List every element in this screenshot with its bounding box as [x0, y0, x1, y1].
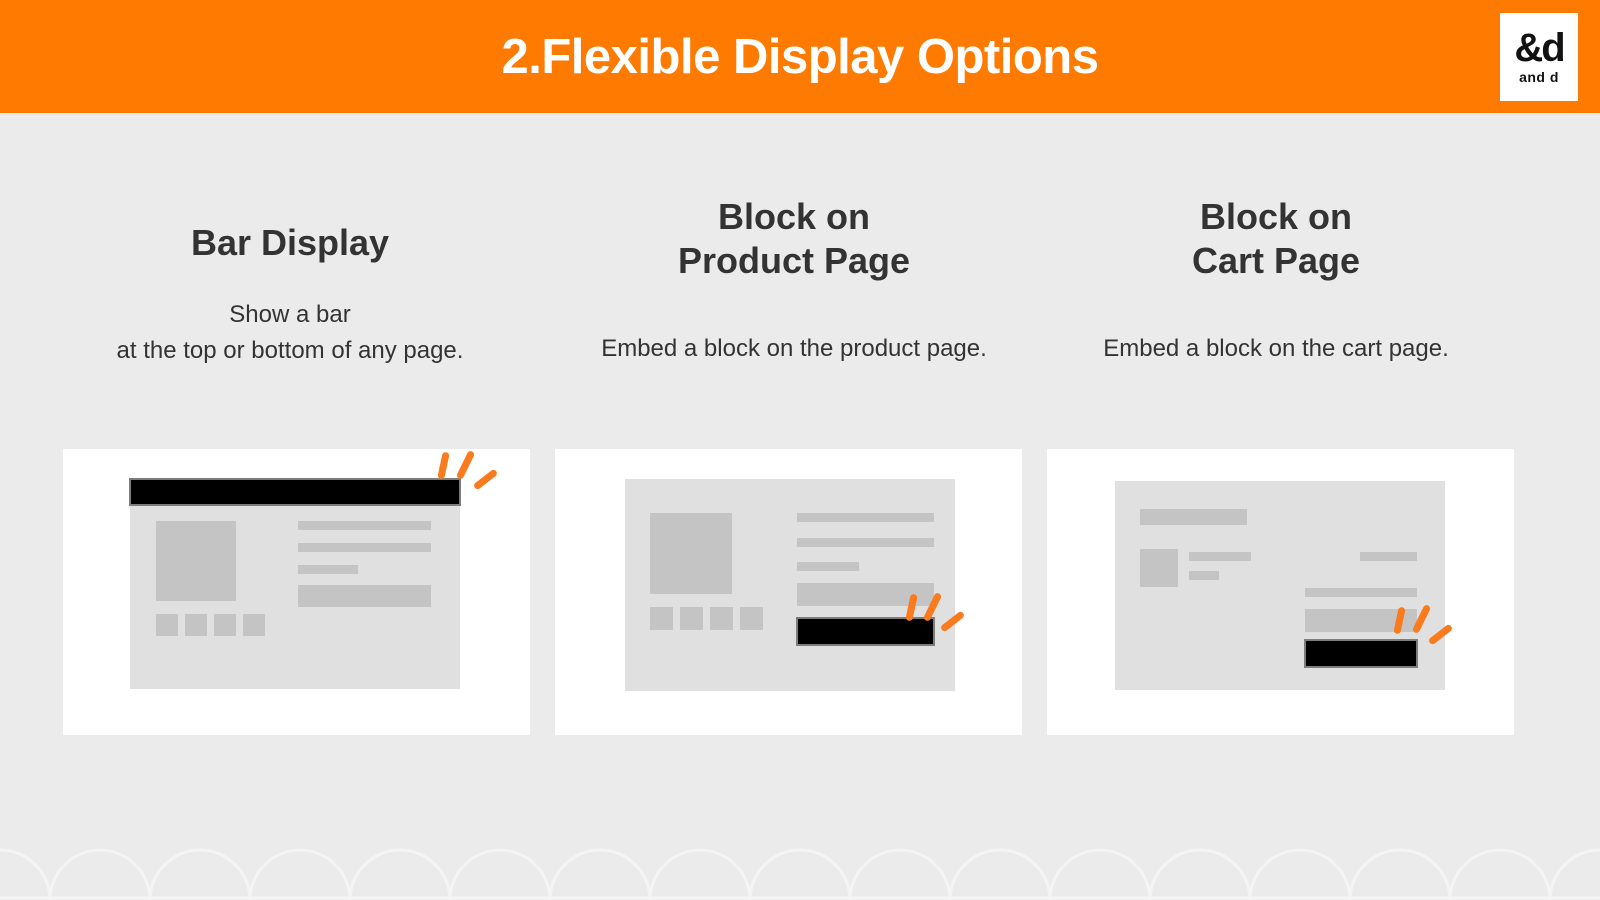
logo-mark-text: &d	[1514, 29, 1563, 67]
wireframe-cta-placeholder	[298, 585, 431, 607]
wireframe-thumbnail	[650, 607, 673, 630]
wireframe-text-line	[1305, 588, 1417, 597]
wireframe-text-line	[298, 543, 431, 552]
column-description: Show a bar at the top or bottom of any p…	[44, 297, 536, 369]
highlight-bar-top	[130, 479, 460, 505]
wireframe-text-line	[1189, 571, 1219, 580]
page-title: 2.Flexible Display Options	[502, 29, 1099, 85]
column-title: Block on Cart Page	[1030, 195, 1522, 283]
wireframe-text-line	[1189, 552, 1251, 561]
wireframe-product-image	[650, 513, 732, 594]
wireframe-text-line	[298, 521, 431, 530]
column-title: Block on Product Page	[548, 195, 1040, 283]
wireframe-text-line	[298, 565, 358, 574]
wireframe-text-line	[797, 513, 934, 522]
wireframe-text-line	[797, 562, 859, 571]
bar-display-wireframe	[130, 489, 460, 689]
page-header: 2.Flexible Display Options &d and d	[0, 0, 1600, 113]
wireframe-text-line	[797, 538, 934, 547]
wireframe-thumbnail	[214, 614, 236, 636]
wireframe-product-image	[156, 521, 236, 601]
brand-logo: &d and d	[1500, 13, 1578, 101]
wireframe-thumbnail	[710, 607, 733, 630]
highlight-block-cart	[1305, 640, 1417, 667]
wireframe-thumbnail	[243, 614, 265, 636]
wireframe-thumbnail	[185, 614, 207, 636]
wireframe-thumbnail	[740, 607, 763, 630]
wireframe-heading-line	[1140, 509, 1247, 525]
cart-page-wireframe	[1115, 481, 1445, 690]
wireframe-thumbnail	[156, 614, 178, 636]
wireframe-cart-item-image	[1140, 549, 1178, 587]
product-page-wireframe	[625, 479, 955, 691]
logo-sub-text: and d	[1519, 69, 1559, 85]
column-title: Bar Display	[44, 221, 536, 265]
highlight-block-product	[797, 618, 934, 645]
wireframe-thumbnail	[680, 607, 703, 630]
column-description: Embed a block on the cart page.	[1030, 331, 1522, 367]
wireframe-text-line	[1360, 552, 1417, 561]
column-description: Embed a block on the product page.	[548, 331, 1040, 367]
